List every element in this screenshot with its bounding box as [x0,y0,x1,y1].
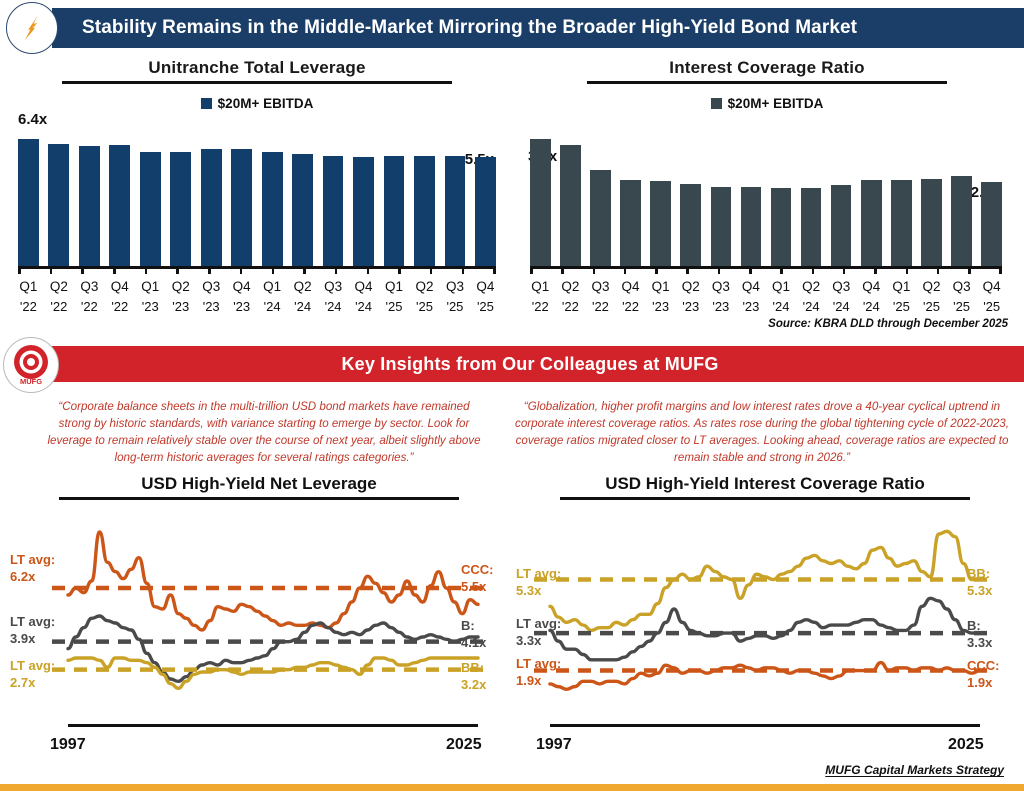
x-tick-label: Q4'24 [861,277,882,317]
bar [414,156,435,269]
tick [367,268,370,274]
end-label-bb: BB: 5.3x [967,566,992,600]
x-start-year: 1997 [536,736,572,754]
footer-accent-rule [0,784,1024,791]
bar [590,170,611,269]
tick [50,268,53,274]
title-underline [587,81,947,84]
tick [430,268,433,274]
chart-usd-hy-interest-coverage-ratio: USD High-Yield Interest Coverage Ratio L… [512,474,1018,706]
tick [208,268,211,274]
x-axis-labels: Q1'22Q2'22Q3'22Q4'22Q1'23Q2'23Q3'23Q4'23… [530,277,1002,317]
x-tick-label: Q1'23 [140,277,161,317]
series-line-bb [68,658,478,688]
legend-label-20m-ebitda: $20M+ EBITDA [218,96,314,111]
x-tick-label: Q2'23 [170,277,191,317]
banner-title: Key Insights from Our Colleagues at MUFG [341,354,718,375]
tick [81,268,84,274]
bar [475,157,496,269]
x-axis-line [550,724,980,727]
chart-interest-coverage-ratio: Interest Coverage Ratio $20M+ EBITDA 3.2… [518,58,1016,317]
x-tick-label: Q2'25 [414,277,435,317]
lt-avg-ccc: LT avg: 1.9x [516,656,561,690]
tick [462,268,465,274]
bar [140,152,161,269]
bar [445,156,466,269]
end-label-ccc: CCC: 1.9x [967,658,1000,692]
chart-usd-hy-net-leverage: USD High-Yield Net Leverage LT avg: 6.2x… [6,474,512,706]
plot-area: LT avg: 6.2x LT avg: 3.9x LT avg: 2.7x C… [6,506,512,706]
x-tick-label: Q1'23 [650,277,671,317]
bar [353,157,374,269]
lt-avg-ccc: LT avg: 6.2x [10,552,55,586]
bar [801,188,822,269]
slide-root: Stability Remains in the Middle-Market M… [0,0,1024,791]
x-axis-ticks [18,268,496,274]
tick [593,268,596,274]
bar [741,187,762,269]
bar [384,156,405,269]
end-label-b: B: 3.3x [967,618,992,652]
x-tick-label: Q2'23 [680,277,701,317]
x-tick-label: Q3'22 [79,277,100,317]
x-tick-label: Q1'22 [18,277,39,317]
bar [170,152,191,269]
bar [861,180,882,269]
chart-title: USD High-Yield Net Leverage [6,474,512,494]
tick [780,268,783,274]
x-start-year: 1997 [50,736,86,754]
bar [831,185,852,269]
bar [680,184,701,269]
quote-left: “Corporate balance sheets in the multi-t… [44,398,484,467]
bar [891,180,912,269]
x-tick-label: Q3'24 [323,277,344,317]
chart-legend: $20M+ EBITDA [8,96,506,111]
key-insights-banner: Key Insights from Our Colleagues at MUFG [36,346,1024,382]
x-tick-label: Q1'25 [384,277,405,317]
legend-swatch-20m-ebitda [711,98,722,109]
tick [145,268,148,274]
tick [655,268,658,274]
x-tick-label: Q3'25 [951,277,972,317]
series-line-ccc [68,532,478,630]
bar [921,179,942,269]
tick [18,268,21,274]
tick [240,268,243,274]
x-tick-label: Q2'22 [48,277,69,317]
bar [262,152,283,269]
plot-area [530,129,1002,269]
series-line-b [550,598,980,660]
title-underline [62,81,452,84]
bar [109,145,130,269]
x-tick-label: Q4'22 [109,277,130,317]
tick [272,268,275,274]
bar [650,181,671,269]
line-series-svg [512,506,1018,706]
series-line-ccc [550,663,980,690]
header-banner: Stability Remains in the Middle-Market M… [52,8,1024,48]
tick [561,268,564,274]
x-tick-label: Q3'23 [711,277,732,317]
bar [620,180,641,269]
tick [530,268,533,274]
tick [937,268,940,274]
lt-avg-bb: LT avg: 2.7x [10,658,55,692]
bar [79,146,100,269]
x-tick-label: Q3'25 [445,277,466,317]
x-tick-label: Q3'22 [590,277,611,317]
tick [906,268,909,274]
tick [686,268,689,274]
svg-text:MUFG: MUFG [20,377,42,386]
x-axis-labels: Q1'22Q2'22Q3'22Q4'22Q1'23Q2'23Q3'23Q4'23… [18,277,496,317]
bar [951,176,972,269]
x-tick-label: Q1'22 [530,277,551,317]
title-underline [59,497,459,500]
chart-title: Unitranche Total Leverage [8,58,506,78]
tick [968,268,971,274]
x-tick-label: Q4'25 [981,277,1002,317]
x-axis-ticks [530,268,1002,274]
chart-title: Interest Coverage Ratio [518,58,1016,78]
lt-avg-b: LT avg: 3.9x [10,614,55,648]
tick [624,268,627,274]
x-tick-label: Q1'25 [891,277,912,317]
x-tick-label: Q3'24 [831,277,852,317]
x-tick-label: Q2'24 [292,277,313,317]
tick [335,268,338,274]
mufg-target-logo-icon: MUFG [3,337,59,393]
chart-title: USD High-Yield Interest Coverage Ratio [512,474,1018,494]
page-title: Stability Remains in the Middle-Market M… [52,17,857,39]
tick [113,268,116,274]
quote-right: “Globalization, higher profit margins an… [512,398,1012,467]
tick [749,268,752,274]
tick [812,268,815,274]
bar [48,144,69,269]
bar [18,139,39,269]
chart-unitranche-total-leverage: Unitranche Total Leverage $20M+ EBITDA 6… [8,58,506,317]
legend-label-20m-ebitda: $20M+ EBITDA [728,96,824,111]
tick [303,268,306,274]
tick [999,268,1002,274]
bar [323,156,344,269]
lt-avg-bb: LT avg: 5.3x [516,566,561,600]
x-tick-label: Q2'22 [560,277,581,317]
end-label-b: B: 4.1x [461,618,486,652]
chart-legend: $20M+ EBITDA [518,96,1016,111]
tick [843,268,846,274]
tick [718,268,721,274]
x-tick-label: Q4'24 [353,277,374,317]
bar [201,149,222,269]
tick [493,268,496,274]
bar [560,145,581,269]
tick [874,268,877,274]
title-underline [560,497,970,500]
x-end-year: 2025 [446,736,482,754]
end-label-ccc: CCC: 5.5x [461,562,494,596]
footer-note: MUFG Capital Markets Strategy [825,763,1004,777]
x-tick-label: Q3'23 [201,277,222,317]
line-series-svg [6,506,512,706]
bar [292,154,313,269]
x-tick-label: Q4'23 [741,277,762,317]
bar-series [18,129,496,269]
plot-area [18,129,496,269]
mufg-bird-logo-icon [6,2,58,54]
x-tick-label: Q1'24 [771,277,792,317]
source-note: Source: KBRA DLD through December 2025 [768,318,1008,330]
bar [981,182,1002,269]
x-tick-label: Q4'25 [475,277,496,317]
tick [398,268,401,274]
first-value-label: 6.4x [18,111,47,128]
end-label-bb: BB: 3.2x [461,660,486,694]
x-tick-label: Q4'22 [620,277,641,317]
plot-area: LT avg: 5.3x LT avg: 3.3x LT avg: 1.9x B… [512,506,1018,706]
bar [231,149,252,269]
bar [530,139,551,269]
bar-series [530,129,1002,269]
legend-swatch-20m-ebitda [201,98,212,109]
x-end-year: 2025 [948,736,984,754]
x-tick-label: Q4'23 [231,277,252,317]
bar [711,187,732,269]
x-tick-label: Q1'24 [262,277,283,317]
x-axis-line [68,724,478,727]
lt-avg-b: LT avg: 3.3x [516,616,561,650]
x-tick-label: Q2'25 [921,277,942,317]
x-tick-label: Q2'24 [801,277,822,317]
bar [771,188,792,269]
tick [176,268,179,274]
